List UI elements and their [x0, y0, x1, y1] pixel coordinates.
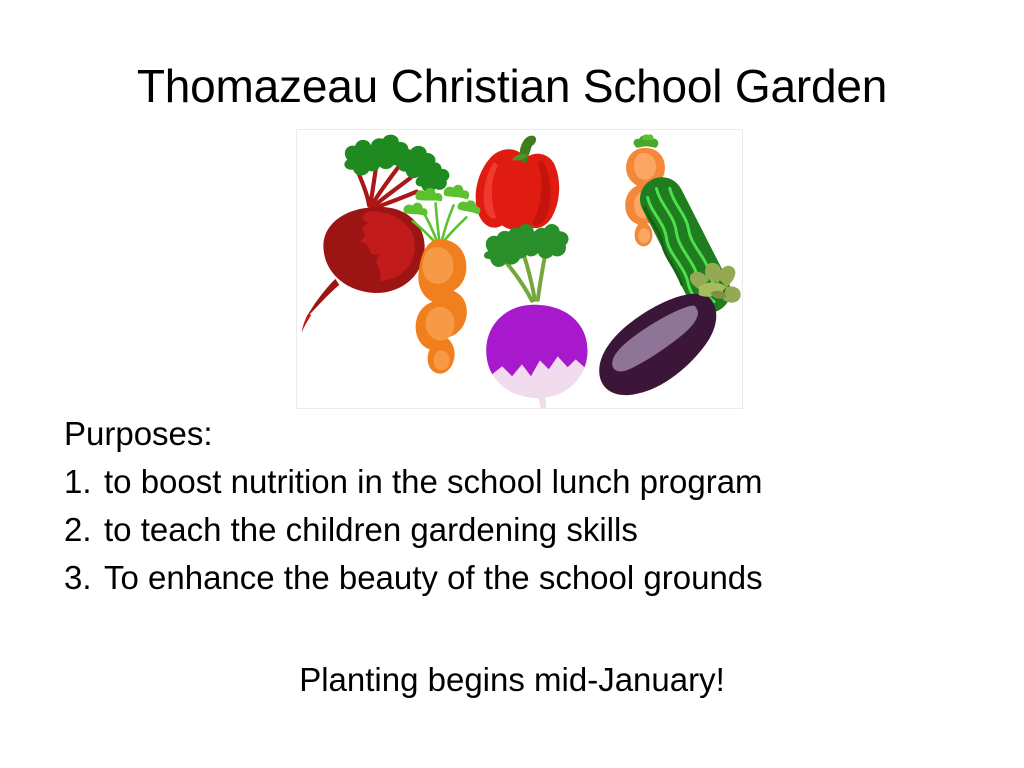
list-item-number: 2. [64, 506, 104, 554]
list-item-text: To enhance the beauty of the school grou… [104, 554, 763, 602]
purposes-list: 1. to boost nutrition in the school lunc… [64, 458, 964, 602]
list-item: 3. To enhance the beauty of the school g… [64, 554, 964, 602]
list-item-text: to teach the children gardening skills [104, 506, 638, 554]
list-item-number: 3. [64, 554, 104, 602]
slide-canvas: Thomazeau Christian School Garden [0, 0, 1024, 768]
vegetables-illustration [297, 130, 742, 408]
closing-line: Planting begins mid-January! [0, 658, 1024, 702]
purposes-block: Purposes: 1. to boost nutrition in the s… [64, 410, 964, 602]
list-item: 2. to teach the children gardening skill… [64, 506, 964, 554]
purposes-label: Purposes: [64, 410, 964, 458]
page-title: Thomazeau Christian School Garden [0, 62, 1024, 112]
list-item-number: 1. [64, 458, 104, 506]
vegetables-image [296, 129, 743, 409]
list-item: 1. to boost nutrition in the school lunc… [64, 458, 964, 506]
bell-pepper-icon [476, 136, 560, 230]
turnip-icon [484, 224, 588, 408]
carrot-icon [404, 185, 481, 374]
list-item-text: to boost nutrition in the school lunch p… [104, 458, 763, 506]
